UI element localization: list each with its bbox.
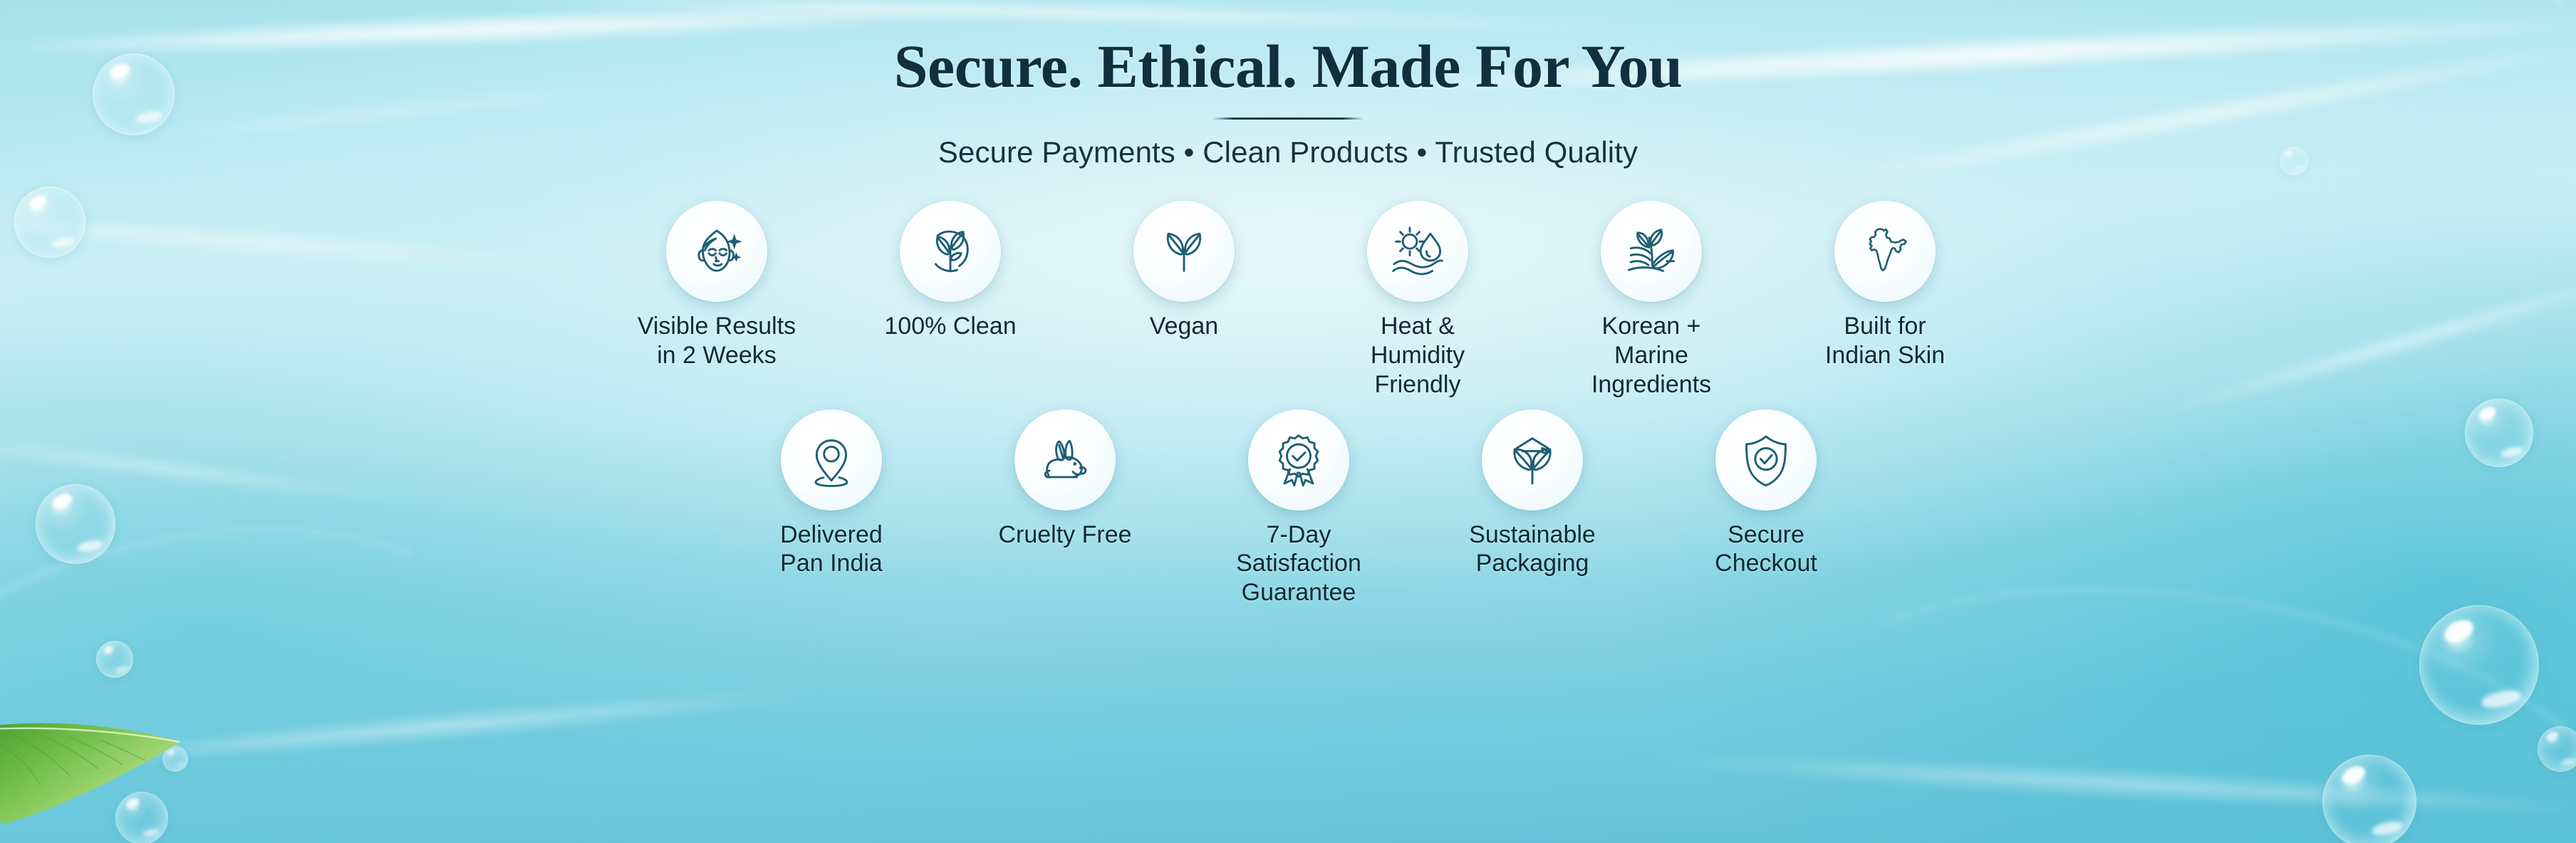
feature-korean-marine[interactable]: Korean + Marine Ingredients: [1569, 201, 1734, 399]
sun-droplet-waves-icon: [1386, 220, 1449, 283]
icon-badge: [1248, 409, 1349, 510]
icon-badge: [1133, 201, 1235, 302]
feature-label: 100% Clean: [884, 312, 1016, 341]
leaf-circle-icon: [919, 220, 982, 283]
feature-vegan[interactable]: Vegan: [1101, 201, 1267, 341]
icon-badge: [1482, 409, 1583, 510]
icon-badge: [1601, 201, 1702, 302]
feature-label: Secure Checkout: [1715, 520, 1817, 579]
feature-label: Cruelty Free: [998, 520, 1131, 550]
feature-label: Sustainable Packaging: [1469, 520, 1596, 579]
feature-label: Korean + Marine Ingredients: [1569, 312, 1734, 399]
icon-badge: [666, 201, 767, 302]
icon-badge: [1715, 409, 1817, 510]
icon-badge: [1834, 201, 1936, 302]
icon-badge: [1014, 409, 1116, 510]
feature-indian-skin[interactable]: Built for Indian Skin: [1802, 201, 1968, 370]
icon-badge: [900, 201, 1001, 302]
feature-row-1: Visible Results in 2 Weeks: [0, 201, 2576, 399]
leaf-waves-icon: [1620, 220, 1683, 283]
feature-delivered-pan-india[interactable]: Delivered Pan India: [749, 409, 914, 579]
package-leaf-icon: [1501, 429, 1564, 491]
feature-cruelty-free[interactable]: Cruelty Free: [982, 409, 1148, 550]
feature-label: Built for Indian Skin: [1825, 312, 1945, 370]
icon-badge: [781, 409, 882, 510]
icon-badge: [1367, 201, 1468, 302]
banner-content: Secure. Ethical. Made For You Secure Pay…: [0, 0, 2576, 843]
title-divider: [1212, 117, 1364, 120]
page-title: Secure. Ethical. Made For You: [894, 34, 1683, 99]
feature-label: Vegan: [1150, 312, 1218, 341]
feature-label: 7-Day Satisfaction Guarantee: [1236, 520, 1361, 607]
face-sparkle-icon: [685, 220, 748, 283]
location-pin-icon: [800, 429, 863, 491]
rabbit-icon: [1034, 429, 1096, 491]
feature-label: Delivered Pan India: [780, 520, 883, 579]
feature-secure-checkout[interactable]: Secure Checkout: [1683, 409, 1849, 579]
promo-banner: Secure. Ethical. Made For You Secure Pay…: [0, 0, 2576, 843]
feature-100-clean[interactable]: 100% Clean: [868, 201, 1033, 341]
sprout-icon: [1153, 220, 1215, 283]
feature-label: Heat & Humidity Friendly: [1335, 312, 1500, 399]
feature-sustainable-packaging[interactable]: Sustainable Packaging: [1450, 409, 1615, 579]
feature-satisfaction-guarantee[interactable]: 7-Day Satisfaction Guarantee: [1216, 409, 1381, 607]
award-rosette-icon: [1267, 429, 1330, 491]
feature-heat-humidity[interactable]: Heat & Humidity Friendly: [1335, 201, 1500, 399]
feature-visible-results[interactable]: Visible Results in 2 Weeks: [634, 201, 799, 370]
feature-row-2: Delivered Pan India: [0, 409, 2576, 607]
india-map-icon: [1854, 220, 1916, 283]
subtitle: Secure Payments • Clean Products • Trust…: [938, 135, 1638, 169]
feature-label: Visible Results in 2 Weeks: [638, 312, 796, 370]
shield-check-icon: [1735, 429, 1797, 491]
